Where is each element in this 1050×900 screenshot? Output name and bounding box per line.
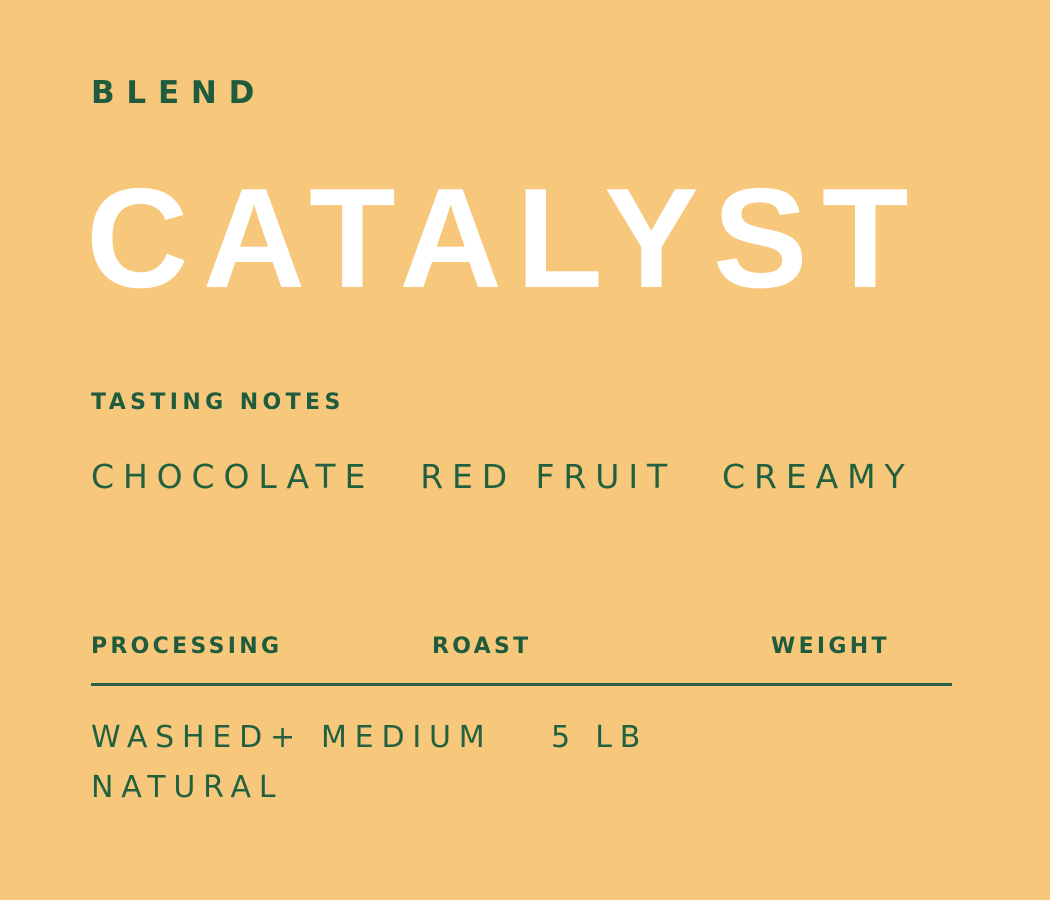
tasting-notes-list: CHOCOLATE RED FRUIT CREAMY bbox=[91, 460, 1010, 493]
spec-header-roast: ROAST bbox=[432, 636, 771, 658]
tasting-note-item: CREAMY bbox=[722, 460, 914, 493]
spec-value-roast: MEDIUM bbox=[321, 713, 551, 813]
tasting-note-item: CHOCOLATE bbox=[91, 460, 374, 493]
spec-value-processing: WASHED+ NATURAL bbox=[91, 713, 321, 813]
coffee-label-card: BLEND CATALYST TASTING NOTES CHOCOLATE R… bbox=[0, 0, 1050, 900]
spec-header-processing: PROCESSING bbox=[91, 636, 432, 658]
blend-eyebrow: BLEND bbox=[91, 78, 266, 109]
spec-table-divider bbox=[91, 683, 952, 686]
spec-value-weight: 5 LB bbox=[551, 713, 732, 813]
spec-header-row: PROCESSING ROAST WEIGHT bbox=[91, 636, 952, 658]
product-name-title: CATALYST bbox=[86, 168, 923, 310]
spec-header-weight: WEIGHT bbox=[771, 636, 952, 658]
tasting-notes-section: TASTING NOTES CHOCOLATE RED FRUIT CREAMY bbox=[91, 392, 1010, 493]
tasting-notes-heading: TASTING NOTES bbox=[91, 392, 1010, 414]
specifications-table: PROCESSING ROAST WEIGHT WASHED+ NATURAL … bbox=[91, 636, 952, 813]
tasting-note-item: RED FRUIT bbox=[420, 460, 676, 493]
spec-value-row: WASHED+ NATURAL MEDIUM 5 LB bbox=[91, 713, 952, 813]
